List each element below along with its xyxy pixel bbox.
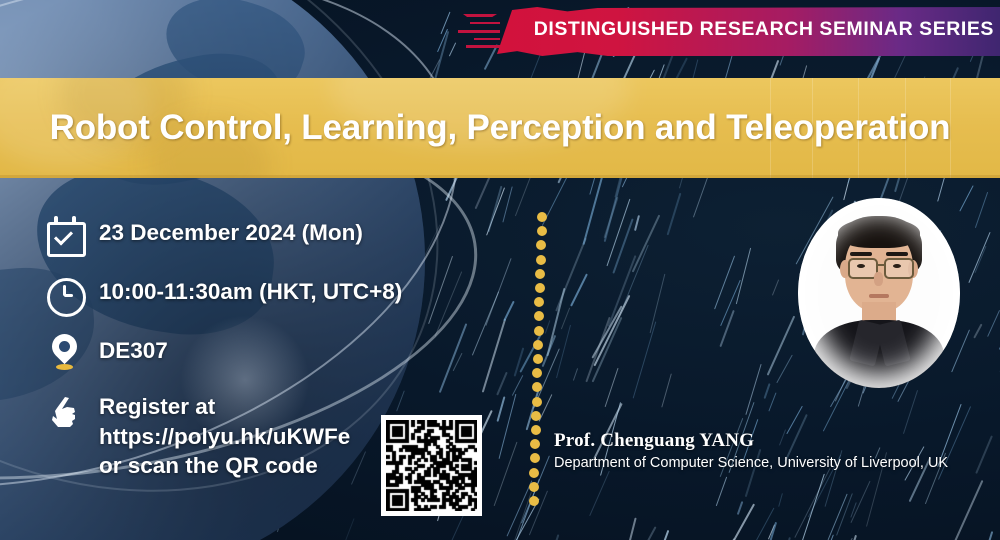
divider-dot: [536, 240, 546, 250]
divider-dot: [532, 368, 542, 378]
divider-dot: [533, 340, 543, 350]
divider-dot: [529, 468, 539, 478]
divider-dot: [534, 326, 544, 336]
registration-text[interactable]: Register at https://polyu.hk/uKWFe or sc…: [99, 391, 350, 481]
location-pin-icon: [44, 332, 86, 374]
divider-dot: [533, 354, 543, 364]
detail-time: 10:00-11:30am (HKT, UTC+8): [99, 273, 402, 305]
detail-row-time: 10:00-11:30am (HKT, UTC+8): [44, 273, 474, 315]
register-url[interactable]: https://polyu.hk/uKWFe: [99, 422, 350, 452]
divider-dot: [530, 453, 540, 463]
speaker-info: Prof. Chenguang YANG Department of Compu…: [554, 430, 984, 473]
divider-dot: [535, 283, 545, 293]
register-line-1: Register at: [99, 392, 350, 422]
detail-date: 23 December 2024 (Mon): [99, 214, 363, 246]
divider-dot: [531, 411, 541, 421]
divider-dot: [531, 425, 541, 435]
detail-venue: DE307: [99, 332, 168, 364]
pointing-hand-icon: [44, 391, 86, 433]
register-line-3: or scan the QR code: [99, 451, 350, 481]
divider-dot: [530, 439, 540, 449]
seminar-poster: DISTINGUISHED RESEARCH SEMINAR SERIES Ro…: [0, 0, 1000, 540]
divider-dot: [537, 212, 547, 222]
divider-dot: [534, 311, 544, 321]
divider-dot: [535, 269, 545, 279]
qr-code[interactable]: [381, 415, 482, 516]
speaker-affiliation: Department of Computer Science, Universi…: [554, 454, 984, 473]
speaker-name: Prof. Chenguang YANG: [554, 430, 984, 452]
series-title: DISTINGUISHED RESEARCH SEMINAR SERIES: [524, 18, 1000, 41]
divider-dot: [536, 255, 546, 265]
speaker-portrait: [798, 198, 960, 388]
dotted-divider: [527, 212, 549, 502]
seminar-title: Robot Control, Learning, Perception and …: [0, 78, 1000, 178]
calendar-icon: [44, 214, 86, 256]
divider-dot: [532, 397, 542, 407]
divider-dot: [532, 382, 542, 392]
divider-dot: [529, 482, 539, 492]
divider-dot: [537, 226, 547, 236]
divider-dot: [534, 297, 544, 307]
detail-row-venue: DE307: [44, 332, 474, 374]
clock-icon: [44, 273, 86, 315]
divider-dot: [529, 496, 539, 506]
detail-row-date: 23 December 2024 (Mon): [44, 214, 474, 256]
